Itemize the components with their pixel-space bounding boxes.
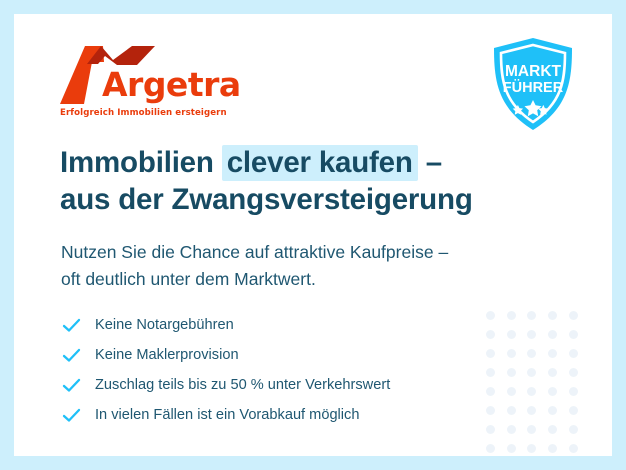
headline-line2: aus der Zwangsversteigerung — [60, 183, 473, 216]
decor-dot — [527, 330, 536, 339]
decor-dot — [507, 406, 516, 415]
decor-dot — [569, 406, 578, 415]
subheadline: Nutzen Sie die Chance auf attraktive Kau… — [61, 239, 566, 294]
benefit-list: Keine Notargebühren Keine Maklerprovisio… — [62, 310, 492, 430]
decor-dot — [527, 349, 536, 358]
decor-dot — [507, 387, 516, 396]
decor-dot — [527, 311, 536, 320]
decor-dot — [527, 425, 536, 434]
decor-dot — [569, 387, 578, 396]
decor-dot — [507, 349, 516, 358]
decor-dot — [548, 406, 557, 415]
check-icon — [62, 378, 92, 393]
list-item-label: Keine Maklerprovision — [92, 348, 239, 363]
logo-wordmark: Argetra — [102, 68, 241, 101]
list-item-label: Keine Notargebühren — [92, 318, 234, 333]
decor-dot — [527, 368, 536, 377]
headline-part-after: – — [418, 146, 442, 179]
list-item: Keine Notargebühren — [62, 310, 492, 340]
list-item-label: Zuschlag teils bis zu 50 % unter Verkehr… — [92, 378, 390, 393]
decor-dot — [527, 387, 536, 396]
list-item: In vielen Fällen ist ein Vorabkauf mögli… — [62, 400, 492, 430]
decor-dot — [569, 425, 578, 434]
check-icon — [62, 408, 92, 423]
decor-dot — [507, 311, 516, 320]
decor-dot — [548, 330, 557, 339]
subheadline-line1: Nutzen Sie die Chance auf attraktive Kau… — [61, 242, 448, 262]
badge-line1: MARKT — [505, 63, 561, 80]
subheadline-line2: oft deutlich unter dem Marktwert. — [61, 269, 316, 289]
decor-dot — [548, 425, 557, 434]
headline-highlight: clever kaufen — [222, 145, 418, 181]
decor-dot — [548, 368, 557, 377]
decor-dot — [569, 444, 578, 453]
decor-dot — [548, 349, 557, 358]
decor-dot — [569, 311, 578, 320]
decor-dot — [507, 425, 516, 434]
list-item: Keine Maklerprovision — [62, 340, 492, 370]
badge-line2: FÜHRER — [503, 79, 564, 96]
banner-card: Argetra Erfolgreich Immobilien ersteiger… — [14, 14, 612, 456]
decor-dot — [569, 368, 578, 377]
decor-dot — [569, 349, 578, 358]
list-item-label: In vielen Fällen ist ein Vorabkauf mögli… — [92, 408, 359, 423]
decor-dot — [548, 311, 557, 320]
headline: Immobilien clever kaufen – aus der Zwang… — [60, 144, 560, 218]
decor-dot — [507, 368, 516, 377]
decor-dot — [527, 444, 536, 453]
decor-dot — [548, 444, 557, 453]
argetra-logo[interactable]: Argetra Erfolgreich Immobilien ersteiger… — [58, 42, 218, 128]
promo-banner: Argetra Erfolgreich Immobilien ersteiger… — [0, 0, 626, 470]
list-item: Zuschlag teils bis zu 50 % unter Verkehr… — [62, 370, 492, 400]
headline-line1: Immobilien clever kaufen – — [60, 145, 442, 181]
decor-dot — [507, 330, 516, 339]
decor-dot — [548, 387, 557, 396]
dot-grid-decoration — [480, 306, 584, 456]
check-icon — [62, 318, 92, 333]
decor-dot — [486, 444, 495, 453]
logo-tagline: Erfolgreich Immobilien ersteigern — [60, 108, 227, 118]
decor-dot — [569, 330, 578, 339]
decor-dot — [527, 406, 536, 415]
decor-dot — [507, 444, 516, 453]
check-icon — [62, 348, 92, 363]
shield-badge-icon: MARKT FÜHRER — [490, 36, 576, 132]
headline-part-before: Immobilien — [60, 146, 222, 179]
